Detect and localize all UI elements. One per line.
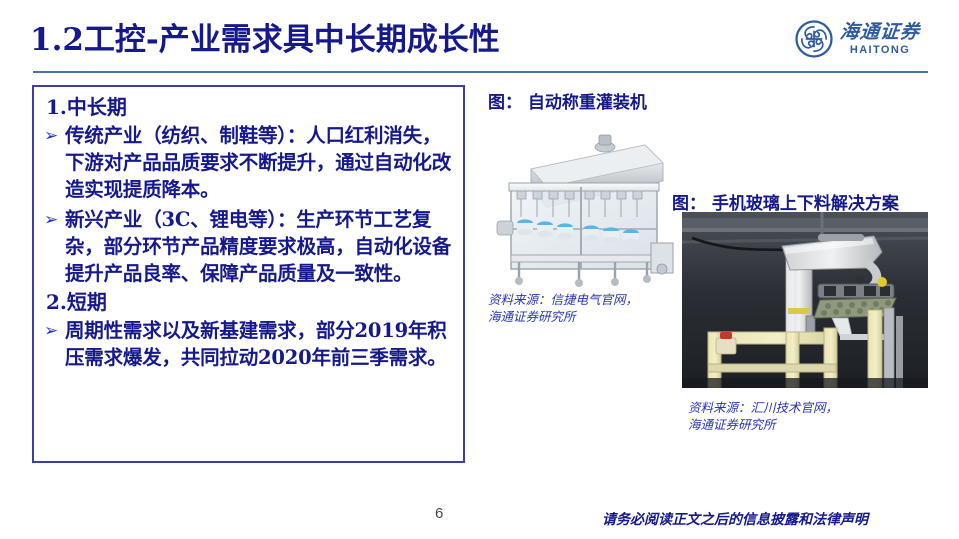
figure-2-image [682, 212, 928, 388]
arrow-bullet-icon: ➢ [44, 318, 65, 342]
section-heading-mid-long-term: 1.中长期 [46, 95, 455, 120]
list-item-text: 周期性需求以及新基建需求，部分2019年积压需求爆发，共同拉动2020年前三季需… [65, 318, 455, 372]
list-item: ➢ 新兴产业（3C、锂电等）：生产环节工艺复杂，部分环节产品精度要求极高，自动化… [44, 207, 455, 288]
figure-2-source: 资料来源：汇川技术官网， 海通证券研究所 [688, 400, 838, 434]
haitong-emblem-icon [795, 20, 833, 58]
list-item-text: 新兴产业（3C、锂电等）：生产环节工艺复杂，部分环节产品精度要求极高，自动化设备… [65, 207, 455, 288]
figure-2-caption: 图： 手机玻璃上下料解决方案 [672, 189, 899, 214]
logo-english-name: HAITONG [850, 45, 910, 56]
logo-chinese-name: 海通证券 [839, 23, 921, 42]
list-item: ➢ 传统产业（纺织、制鞋等）：人口红利消失，下游对产品品质要求不断提升，通过自动… [44, 123, 455, 204]
section-heading-short-term: 2.短期 [46, 290, 455, 315]
figure-1-caption: 图： 自动称重灌装机 [488, 88, 647, 113]
haitong-logo: 海通证券 HAITONG [795, 16, 940, 62]
arrow-bullet-icon: ➢ [44, 207, 65, 231]
page-title: 1.2工控-产业需求具中长期成长性 [30, 14, 500, 59]
title-divider [33, 71, 928, 73]
list-item: ➢ 周期性需求以及新基建需求，部分2019年积压需求爆发，共同拉动2020年前三… [44, 318, 455, 372]
list-item-text: 传统产业（纺织、制鞋等）：人口红利消失，下游对产品品质要求不断提升，通过自动化改… [65, 123, 455, 204]
figure-1-source: 资料来源：信捷电气官网， 海通证券研究所 [488, 292, 638, 326]
content-panel: 1.中长期 ➢ 传统产业（纺织、制鞋等）：人口红利消失，下游对产品品质要求不断提… [32, 85, 465, 463]
arrow-bullet-icon: ➢ [44, 123, 65, 147]
figure-1-image [495, 117, 691, 293]
page-number: 6 [435, 505, 443, 522]
footer-disclaimer: 请务必阅读正文之后的信息披露和法律声明 [602, 509, 868, 529]
